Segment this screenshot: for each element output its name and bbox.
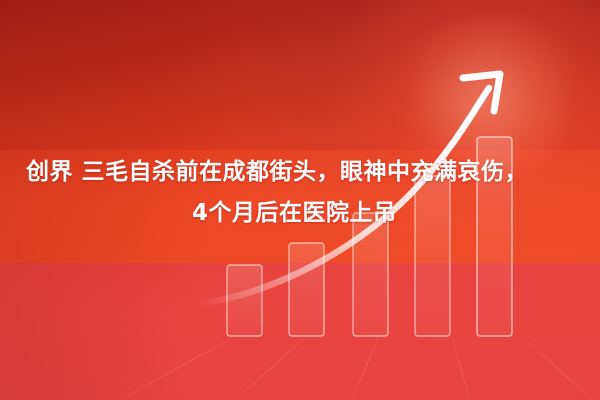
headline-line-2: 4个月后在医院上吊 <box>26 193 574 234</box>
headline-line-1: 创界 三毛自杀前在成都街头，眼神中充满哀伤， <box>26 152 574 193</box>
poster-canvas: 创界 三毛自杀前在成都街头，眼神中充满哀伤， 4个月后在医院上吊 <box>0 0 600 400</box>
background-band-top <box>0 0 600 152</box>
background-band-bottom <box>0 263 600 400</box>
headline-text: 创界 三毛自杀前在成都街头，眼神中充满哀伤， 4个月后在医院上吊 <box>26 152 574 234</box>
